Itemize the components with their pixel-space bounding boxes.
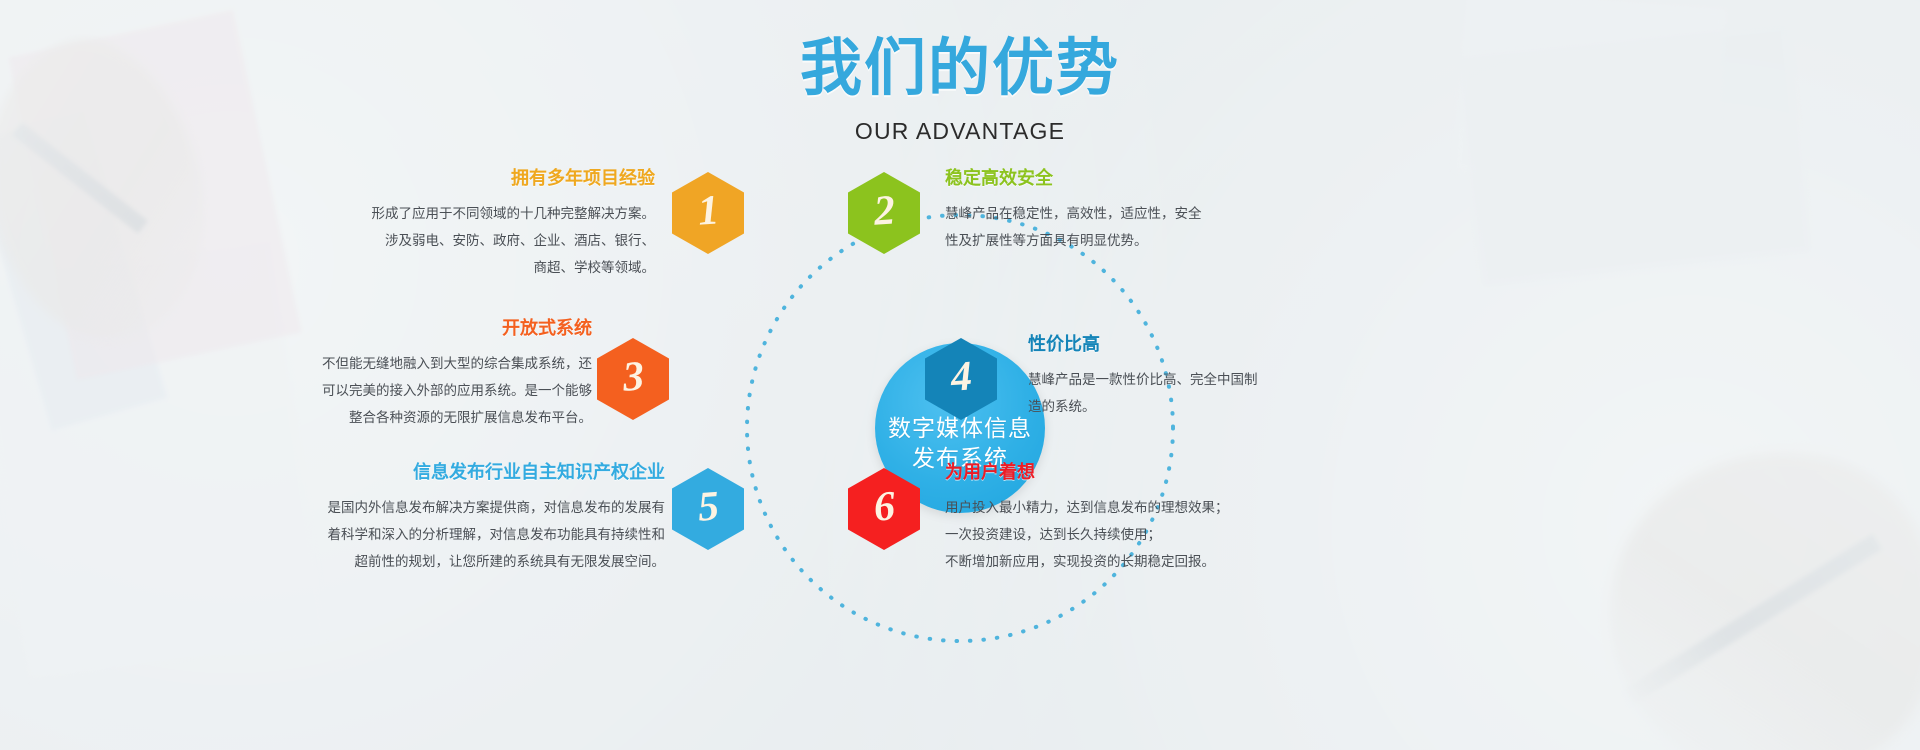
- advantage-body-1: 形成了应用于不同领域的十几种完整解决方案。涉及弱电、安防、政府、企业、酒店、银行…: [300, 200, 655, 281]
- hexagon-badge-2[interactable]: 2: [848, 172, 920, 254]
- advantage-body-5: 是国内外信息发布解决方案提供商，对信息发布的发展有着科学和深入的分析理解，对信息…: [300, 494, 665, 575]
- advantage-title-2: 稳定高效安全: [945, 168, 1325, 190]
- hexagon-number-4: 4: [949, 352, 973, 401]
- hexagon-badge-5[interactable]: 5: [672, 468, 744, 550]
- hexagon-number-3: 3: [621, 352, 645, 401]
- advantage-body-4: 慧峰产品是一款性价比高、完全中国制造的系统。: [1028, 366, 1388, 420]
- hexagon-badge-1[interactable]: 1: [672, 172, 744, 254]
- hexagon-number-6: 6: [872, 482, 896, 531]
- advantage-body-3: 不但能无缝地融入到大型的综合集成系统，还可以完美的接入外部的应用系统。是一个能够…: [260, 350, 592, 431]
- hexagon-number-1: 1: [696, 186, 720, 235]
- header: 我们的优势 OUR ADVANTAGE: [0, 38, 1920, 145]
- advantage-title-3: 开放式系统: [260, 318, 592, 340]
- advantage-title-4: 性价比高: [1028, 334, 1388, 356]
- advantage-item-6: 为用户着想 用户投入最小精力，达到信息发布的理想效果；一次投资建设，达到长久持续…: [945, 462, 1325, 575]
- advantage-item-1: 拥有多年项目经验 形成了应用于不同领域的十几种完整解决方案。涉及弱电、安防、政府…: [300, 168, 655, 281]
- hexagon-number-5: 5: [696, 482, 720, 531]
- advantage-body-6: 用户投入最小精力，达到信息发布的理想效果；一次投资建设，达到长久持续使用；不断增…: [945, 494, 1325, 575]
- hexagon-badge-3[interactable]: 3: [597, 338, 669, 420]
- advantage-item-3: 开放式系统 不但能无缝地融入到大型的综合集成系统，还可以完美的接入外部的应用系统…: [260, 318, 592, 431]
- advantage-title-1: 拥有多年项目经验: [300, 168, 655, 190]
- advantage-body-2: 慧峰产品在稳定性，高效性，适应性，安全性及扩展性等方面具有明显优势。: [945, 200, 1325, 254]
- advantage-item-5: 信息发布行业自主知识产权企业 是国内外信息发布解决方案提供商，对信息发布的发展有…: [300, 462, 665, 575]
- page-subtitle: OUR ADVANTAGE: [0, 118, 1920, 145]
- hexagon-number-2: 2: [872, 186, 896, 235]
- advantage-item-4: 性价比高 慧峰产品是一款性价比高、完全中国制造的系统。: [1028, 334, 1388, 420]
- advantage-title-5: 信息发布行业自主知识产权企业: [300, 462, 665, 484]
- page-title: 我们的优势: [0, 38, 1920, 100]
- advantage-title-6: 为用户着想: [945, 462, 1325, 484]
- advantage-item-2: 稳定高效安全 慧峰产品在稳定性，高效性，适应性，安全性及扩展性等方面具有明显优势…: [945, 168, 1325, 254]
